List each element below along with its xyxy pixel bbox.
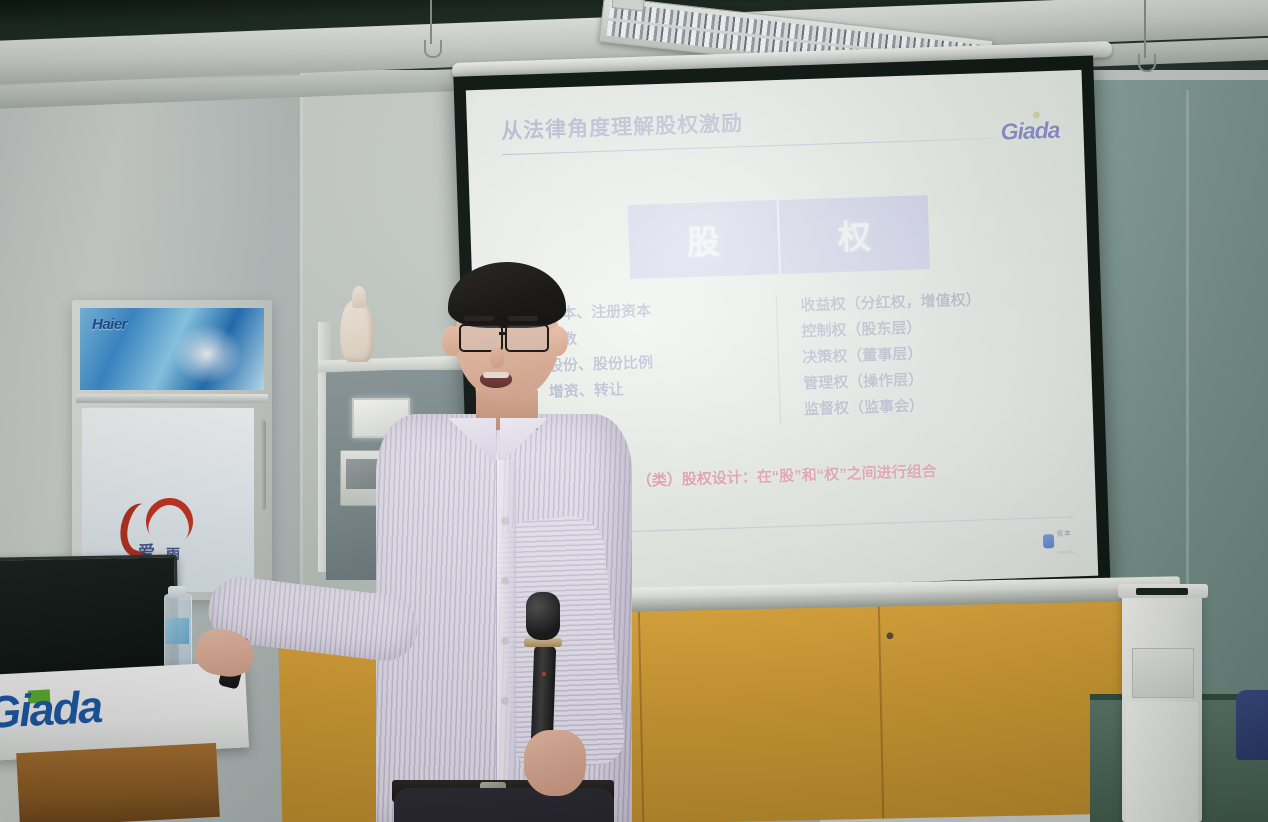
right-column: 收益权（分红权，增值权） 控制权（股东层） 决策权（董事层） 管理权（操作层） … [775, 286, 1020, 424]
wire-hook [424, 40, 442, 58]
partner-badge-icon [1042, 534, 1053, 548]
footer-logo-text: 资本 [1056, 531, 1071, 538]
dispenser-cabinet [1126, 702, 1198, 822]
speaker-nose [490, 348, 504, 368]
footer-partner-logo: 资本 CAPITAL [1042, 522, 1076, 559]
blue-bag [1236, 690, 1268, 760]
footer-logo-sub: CAPITAL [1057, 549, 1076, 555]
footer-logo-block: 资本 CAPITAL [1056, 522, 1076, 559]
speaker-eyebrow [508, 316, 538, 321]
hanging-wire [1144, 0, 1146, 58]
dispenser-control-panel[interactable] [1136, 588, 1188, 595]
speaker-hand-right [524, 730, 586, 796]
speaker-teeth [483, 372, 509, 378]
glasses-lens-right [505, 324, 549, 352]
haier-brand-label: Haier [92, 316, 127, 333]
wire-hook [1138, 54, 1156, 72]
speaker-trousers [394, 788, 614, 822]
presentation-photo: Haier 爱 雨 二 从法律角度理解股权激励 Giada [0, 0, 1268, 822]
microphone-indicator [542, 672, 546, 676]
speaker-eyebrow [464, 316, 494, 321]
giada-logo: Giada [1000, 117, 1060, 146]
cabinet-knob[interactable] [886, 632, 893, 639]
shirt-button [502, 578, 508, 584]
speaker [180, 268, 650, 822]
glasses-bridge [499, 332, 507, 335]
shirt-button [502, 518, 508, 524]
dispenser-drip-tray [1132, 648, 1194, 698]
slide-header-row: 股 权 [628, 195, 930, 279]
shirt-button [502, 698, 508, 704]
shirt-placket [496, 460, 516, 790]
shirt-button [502, 638, 508, 644]
microphone-head [526, 592, 560, 640]
podium-brand-label: Giada [0, 681, 102, 739]
header-cell-quan: 权 [777, 195, 930, 274]
highlight-statement: （类）股权设计：在“股”和“权”之间进行组合 [636, 460, 937, 491]
header-cell-gu: 股 [628, 200, 779, 279]
speaker-ear-right [548, 326, 568, 356]
giada-logo-text: Giada [1000, 117, 1060, 145]
hanging-wire [430, 0, 432, 44]
